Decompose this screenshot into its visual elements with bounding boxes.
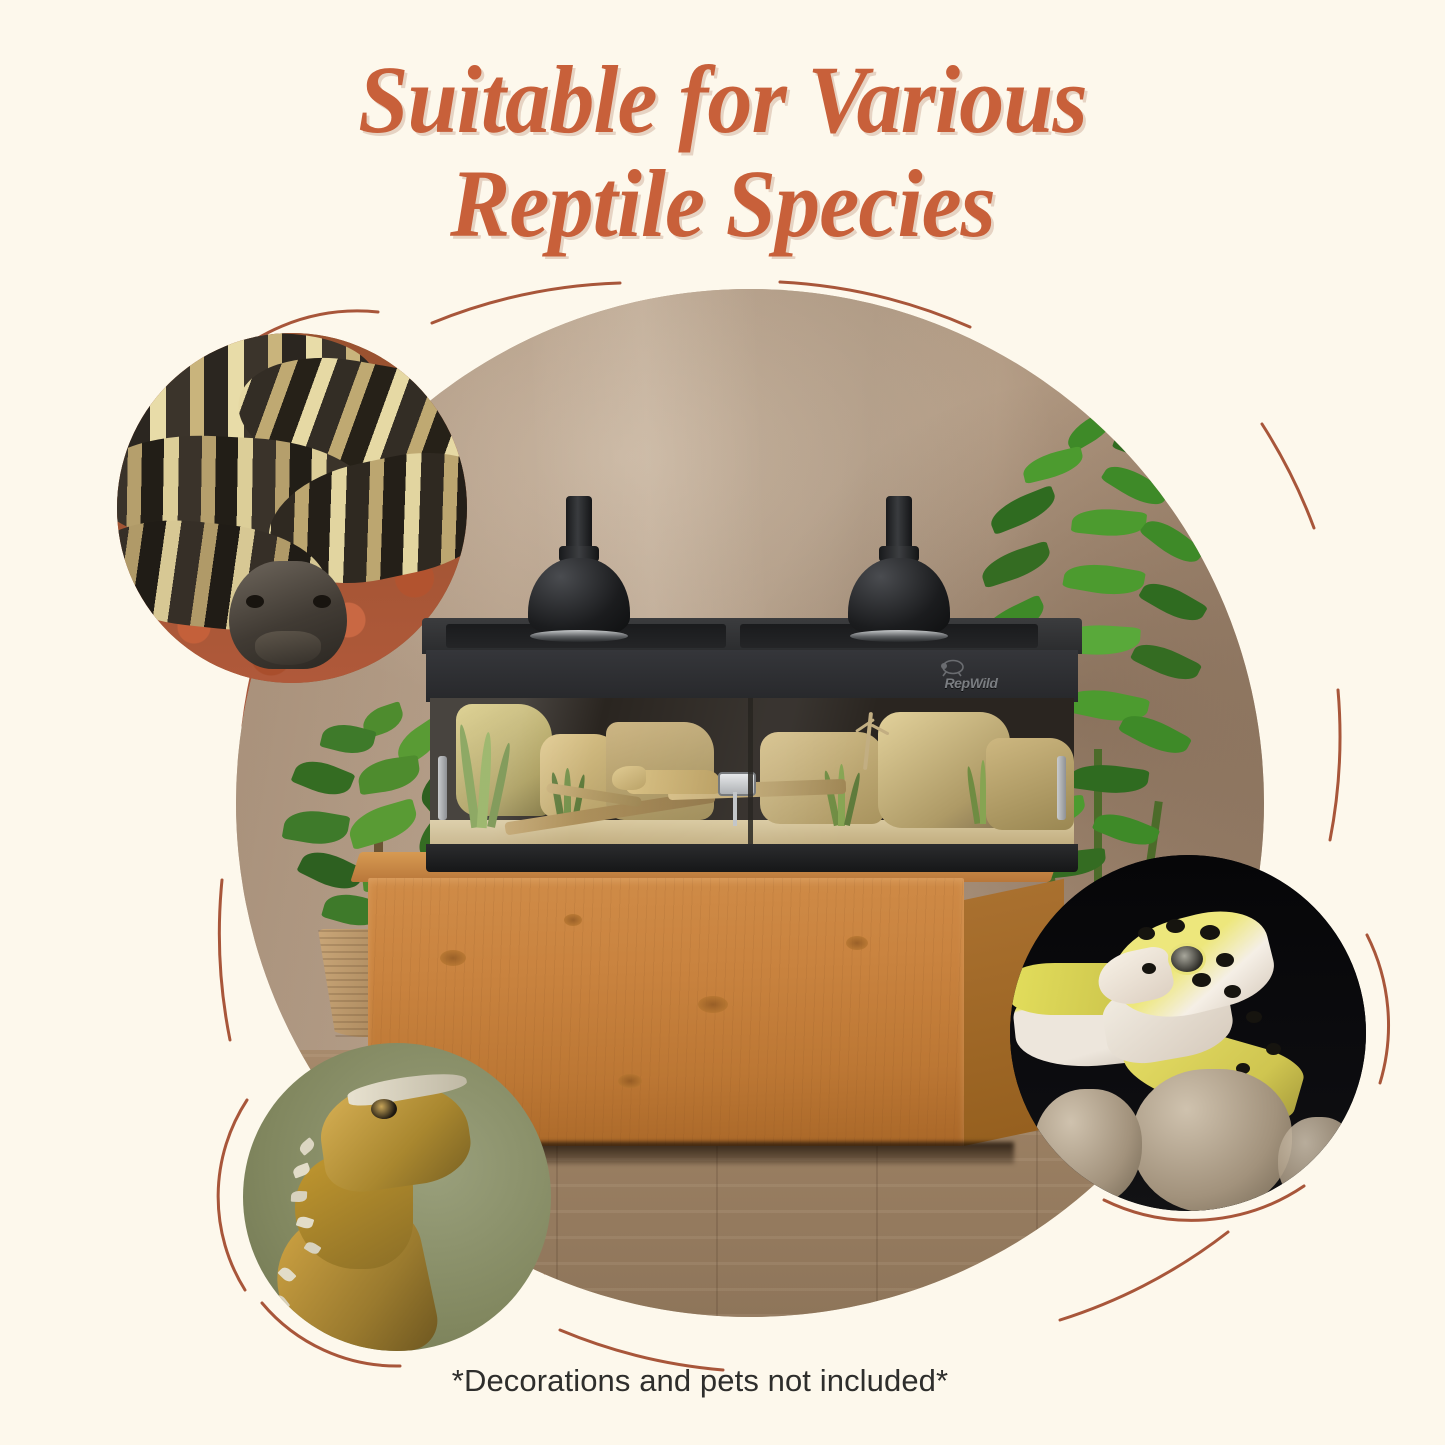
arc-main-right: [1330, 690, 1340, 840]
poster-canvas: Suitable for Various Reptile Species: [0, 0, 1445, 1445]
terrarium-frame: RepWild: [426, 650, 1078, 702]
stone-right: [1278, 1117, 1358, 1209]
snake-eye-right: [313, 595, 331, 608]
arc-main-upperright: [1262, 424, 1314, 528]
terrarium-base: [426, 844, 1078, 872]
arc-main-left: [219, 880, 230, 1040]
glass-door-divider: [748, 698, 753, 846]
arc-gecko-right: [1367, 935, 1389, 1083]
arc-main-bottomleft: [560, 1330, 723, 1370]
ball-python-photo: [117, 333, 467, 683]
bearded-dragon-photo: [243, 1043, 551, 1351]
gauge-stem: [733, 792, 737, 826]
leopard-gecko-photo: [1010, 855, 1366, 1211]
terrarium-glass-doors: [430, 698, 1074, 846]
snake-eye-left: [246, 595, 264, 608]
stone-center: [1132, 1069, 1292, 1211]
stone-left: [1034, 1089, 1142, 1207]
door-handle-right[interactable]: [1057, 756, 1066, 820]
reptile-terrarium-product: RepWild: [422, 618, 1082, 876]
heat-lamp-left: [528, 496, 630, 646]
heat-lamp-right: [848, 496, 950, 646]
beardie-eye: [371, 1099, 397, 1119]
snake-snout: [255, 631, 321, 665]
gecko-eye: [1168, 943, 1206, 975]
terrarium-hood: [422, 618, 1082, 654]
door-handle-left[interactable]: [438, 756, 447, 820]
brand-logo-text: RepWild: [926, 675, 1016, 691]
brand-logo: RepWild: [926, 658, 1016, 694]
